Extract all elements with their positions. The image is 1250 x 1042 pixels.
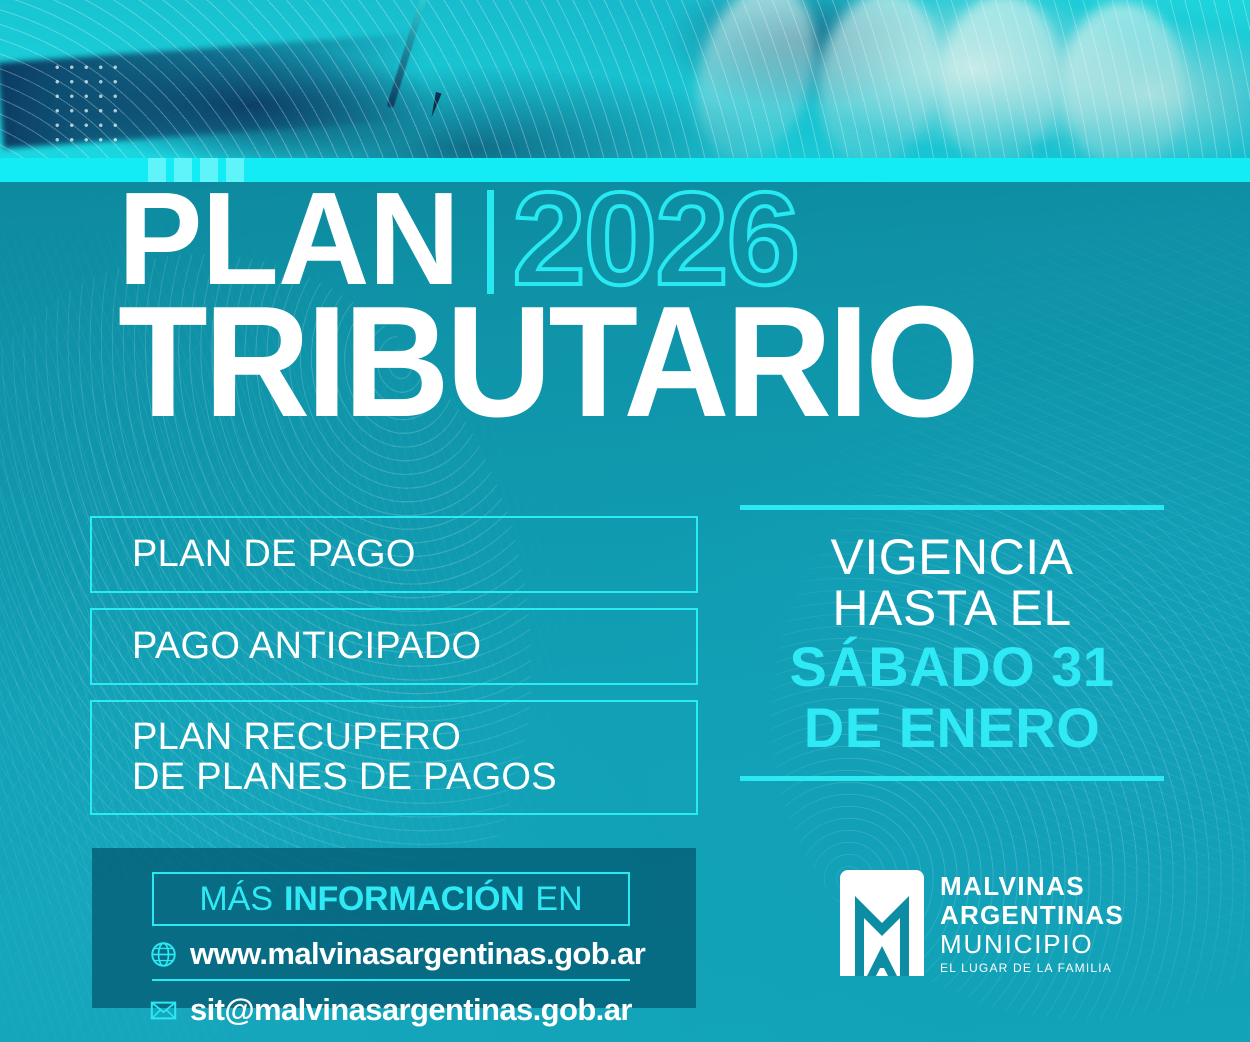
validity-line-2: HASTA EL [740,583,1164,634]
logo-text-block: MALVINAS ARGENTINAS MUNICIPIO EL LUGAR D… [940,873,1124,974]
contact-panel: MÁS INFORMACIÓN EN www.malvinasargentina… [92,848,696,1008]
more-info-prefix: MÁS [199,880,273,919]
logo-tagline: EL LUGAR DE LA FAMILIA [940,962,1124,974]
poster-canvas: PLAN 2026 TRIBUTARIO PLAN DE PAGO PAGO A… [0,0,1250,1042]
title-block: PLAN 2026 TRIBUTARIO [0,186,1250,486]
logo-line-argentinas: ARGENTINAS [940,902,1124,928]
title-tributario: TRIBUTARIO [118,298,976,428]
more-info-suffix: EN [535,880,582,919]
envelope-icon [150,997,177,1024]
contact-email-text: sit@malvinasargentinas.gob.ar [190,992,632,1028]
more-info-bold: INFORMACIÓN [284,880,524,919]
header-photo-line-overlay [0,0,1250,182]
feature-item-pago-anticipado[interactable]: PAGO ANTICIPADO [90,608,698,685]
validity-highlight-1: SÁBADO 31 [740,638,1164,695]
contact-email-row[interactable]: sit@malvinasargentinas.gob.ar [150,992,632,1028]
validity-rule-bottom [740,776,1164,781]
feature-list: PLAN DE PAGO PAGO ANTICIPADO PLAN RECUPE… [90,516,698,830]
validity-rule-top [740,505,1164,510]
validity-line-1: VIGENCIA [740,532,1164,583]
feature-label: PAGO ANTICIPADO [132,627,481,667]
validity-block: VIGENCIA HASTA EL SÁBADO 31 DE ENERO [740,505,1164,781]
malvinas-argentinas-monogram-icon [840,870,924,976]
feature-item-plan-recupero[interactable]: PLAN RECUPERO DE PLANES DE PAGOS [90,700,698,815]
validity-highlight-2: DE ENERO [740,699,1164,756]
contact-divider [152,979,630,981]
more-info-box: MÁS INFORMACIÓN EN [152,872,630,926]
logo-line-malvinas: MALVINAS [940,873,1124,899]
municipality-logo: MALVINAS ARGENTINAS MUNICIPIO EL LUGAR D… [840,870,1124,976]
logo-line-municipio: MUNICIPIO [940,931,1124,957]
feature-label: PLAN RECUPERO DE PLANES DE PAGOS [132,718,557,798]
contact-website-text: www.malvinasargentinas.gob.ar [190,936,645,972]
feature-item-plan-de-pago[interactable]: PLAN DE PAGO [90,516,698,593]
feature-label: PLAN DE PAGO [132,535,416,575]
contact-website-row[interactable]: www.malvinasargentinas.gob.ar [150,936,645,972]
header-photo-banner [0,0,1250,182]
globe-icon [150,941,177,968]
dot-grid-icon [50,60,120,146]
